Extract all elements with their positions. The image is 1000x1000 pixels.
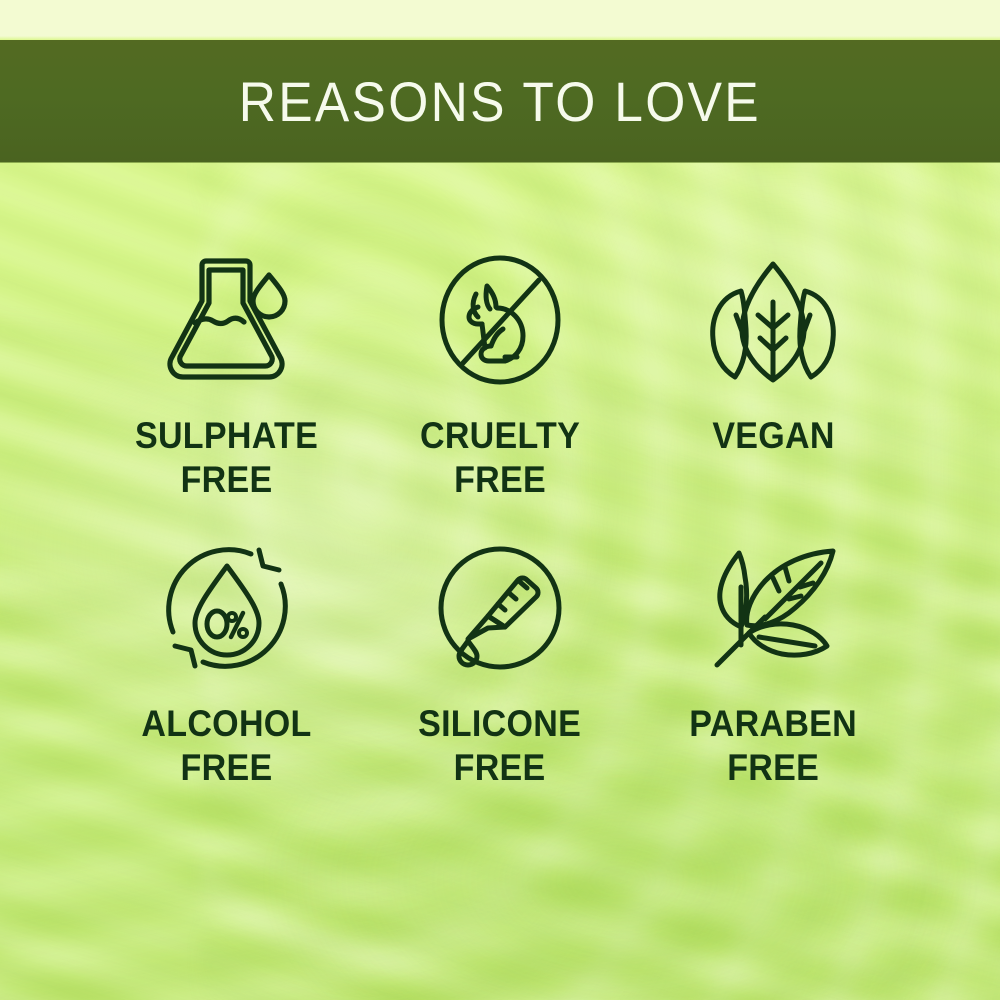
feature-item-cruelty-free: CRUELTY FREE — [363, 250, 636, 538]
feature-item-paraben-free: PARABEN FREE — [637, 538, 910, 826]
feature-label-line1: ALCOHOL — [142, 703, 312, 744]
feature-label-line1: VEGAN — [712, 415, 834, 456]
feature-label-line2: FREE — [142, 746, 312, 790]
feature-label-paraben-free: PARABEN FREE — [689, 702, 857, 789]
feature-item-sulphate-free: SULPHATE FREE — [90, 250, 363, 538]
feature-item-vegan: VEGAN — [637, 250, 910, 538]
feature-label-alcohol-free: ALCOHOL FREE — [142, 702, 312, 789]
feature-label-line2: FREE — [419, 746, 582, 790]
feature-grid: SULPHATE FREE — [0, 250, 1000, 826]
flask-droplet-icon — [162, 250, 292, 390]
header-banner: REASONS TO LOVE — [0, 40, 1000, 162]
feature-label-cruelty-free: CRUELTY FREE — [420, 414, 580, 501]
feature-label-line2: FREE — [420, 458, 580, 502]
feature-label-line2: FREE — [689, 746, 857, 790]
feature-label-line2: FREE — [135, 458, 318, 502]
no-animal-testing-rabbit-icon — [435, 250, 565, 390]
reasons-to-love-panel: REASONS TO LOVE SULPHATE FREE — [0, 0, 1000, 1000]
feature-label-line1: SULPHATE — [135, 415, 318, 456]
zero-percent-droplet-icon — [159, 538, 295, 678]
dropper-pipette-circle-icon — [432, 538, 568, 678]
feature-item-silicone-free: SILICONE FREE — [363, 538, 636, 826]
page-title: REASONS TO LOVE — [239, 69, 761, 134]
three-leaves-vegan-icon — [703, 250, 843, 390]
feature-label-vegan: VEGAN — [712, 414, 834, 458]
feature-item-alcohol-free: ALCOHOL FREE — [90, 538, 363, 826]
leaf-branch-icon — [703, 538, 843, 678]
feature-label-line1: CRUELTY — [420, 415, 580, 456]
feature-label-line1: SILICONE — [419, 703, 582, 744]
feature-label-sulphate-free: SULPHATE FREE — [135, 414, 318, 501]
feature-label-line1: PARABEN — [689, 703, 857, 744]
feature-label-silicone-free: SILICONE FREE — [419, 702, 582, 789]
